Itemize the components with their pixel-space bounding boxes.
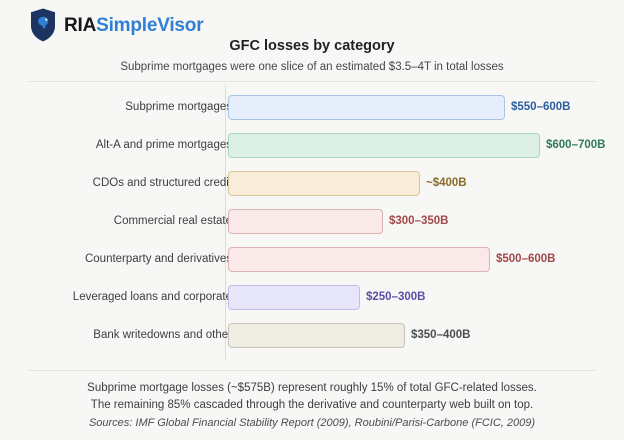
bar bbox=[228, 171, 420, 196]
footer-line-1: Subprime mortgage losses (~$575B) repres… bbox=[0, 380, 624, 397]
bar-value-label: $600–700B bbox=[546, 126, 605, 164]
brand-name-secondary: SimpleVisor bbox=[96, 15, 203, 36]
bar bbox=[228, 209, 383, 234]
bar-category-label: CDOs and structured credit bbox=[93, 164, 232, 202]
bar-row: Subprime mortgages$550–600B bbox=[0, 88, 624, 126]
bar-row: Counterparty and derivatives$500–600B bbox=[0, 240, 624, 278]
bar-value-label: $550–600B bbox=[511, 88, 570, 126]
bar bbox=[228, 247, 490, 272]
bar-value-label: ~$400B bbox=[426, 164, 467, 202]
page-subtitle: Subprime mortgages were one slice of an … bbox=[0, 61, 624, 73]
bar-chart: Subprime mortgages$550–600BAlt-A and pri… bbox=[0, 88, 624, 358]
brand-logo[interactable]: RIASimpleVisor bbox=[30, 8, 203, 42]
bar-value-label: $300–350B bbox=[389, 202, 448, 240]
divider-bottom bbox=[28, 370, 596, 371]
footer-line-2: The remaining 85% cascaded through the d… bbox=[0, 397, 624, 414]
infographic-page: RIASimpleVisor GFC losses by category Su… bbox=[0, 0, 624, 440]
bar-row: Leveraged loans and corporate$250–300B bbox=[0, 278, 624, 316]
footer-notes: Subprime mortgage losses (~$575B) repres… bbox=[0, 380, 624, 433]
bar bbox=[228, 95, 505, 120]
brand-name-primary: RIA bbox=[64, 15, 96, 36]
bar-row: Commercial real estate$300–350B bbox=[0, 202, 624, 240]
bar-category-label: Bank writedowns and other bbox=[93, 316, 232, 354]
shield-brain-icon bbox=[30, 8, 56, 42]
bar-category-label: Commercial real estate bbox=[114, 202, 232, 240]
page-title: GFC losses by category bbox=[0, 38, 624, 54]
bar-row: Bank writedowns and other$350–400B bbox=[0, 316, 624, 354]
bar bbox=[228, 285, 360, 310]
footer-sources: Sources: IMF Global Financial Stability … bbox=[0, 414, 624, 433]
bar bbox=[228, 323, 405, 348]
bar-value-label: $350–400B bbox=[411, 316, 470, 354]
bar-category-label: Counterparty and derivatives bbox=[85, 240, 232, 278]
divider-top bbox=[28, 81, 596, 82]
bar-value-label: $500–600B bbox=[496, 240, 555, 278]
bar-row: CDOs and structured credit~$400B bbox=[0, 164, 624, 202]
bar-category-label: Leveraged loans and corporate bbox=[73, 278, 232, 316]
bar bbox=[228, 133, 540, 158]
bar-value-label: $250–300B bbox=[366, 278, 425, 316]
bar-row: Alt-A and prime mortgages$600–700B bbox=[0, 126, 624, 164]
bar-category-label: Subprime mortgages bbox=[125, 88, 232, 126]
bar-category-label: Alt-A and prime mortgages bbox=[96, 126, 232, 164]
brand-name: RIASimpleVisor bbox=[64, 16, 203, 35]
